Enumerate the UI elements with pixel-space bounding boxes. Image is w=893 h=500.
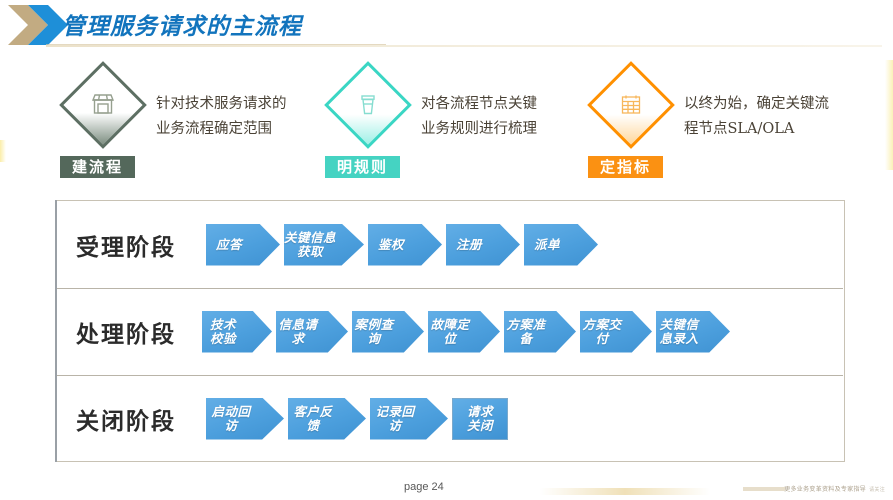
page-number: page 24: [404, 481, 444, 493]
flow-step-label: 方案交付: [582, 318, 621, 346]
page-title: 管理服务请求的主流程: [62, 7, 302, 41]
flow-step[interactable]: 启动回访: [206, 398, 284, 440]
flow-row: 关闭阶段启动回访客户反馈记录回访请求关闭: [56, 375, 844, 462]
flow-step[interactable]: 关键信息录入: [656, 311, 730, 353]
watermark-text: 更多业务变革资料及专家指导: [784, 486, 866, 493]
footer-smudge: [540, 488, 710, 495]
flow-step-label: 应答: [216, 238, 242, 252]
flow-step-label: 客户反馈: [293, 405, 332, 433]
flow-step-label: 案例查询: [354, 318, 393, 346]
flow-step-label: 关键信息获取: [284, 231, 336, 259]
pillar-caption-1-line2: 业务流程确定范围: [156, 117, 272, 142]
flow-step[interactable]: 关键信息获取: [284, 224, 364, 266]
flow-step-label: 关键信息录入: [659, 318, 698, 346]
flow-step[interactable]: 案例查询: [352, 311, 424, 353]
pillar-chip-2: 明规则: [325, 156, 400, 178]
flow-step-label: 注册: [456, 238, 482, 252]
diamond-shape-1: [60, 62, 146, 148]
flow-step[interactable]: 方案准备: [504, 311, 576, 353]
flow-step-label: 启动回访: [211, 405, 250, 433]
pillar-caption-2-line1: 对各流程节点关键: [421, 92, 537, 117]
flow-step[interactable]: 派单: [524, 224, 598, 266]
diamond-shape-2: [325, 62, 411, 148]
pillar-caption-3-line2: 程节点SLA/OLA: [684, 117, 794, 142]
flow-panel-left-accent: [55, 200, 57, 462]
flow-panel: 受理阶段应答关键信息获取鉴权注册派单处理阶段技术校验信息请求案例查询故障定位方案…: [55, 200, 845, 462]
flow-step[interactable]: 技术校验: [202, 311, 272, 353]
flow-step[interactable]: 应答: [206, 224, 280, 266]
flow-step-label: 鉴权: [378, 238, 404, 252]
slide-canvas: 管理服务请求的主流程 建流程 针对技术服务请求: [0, 0, 893, 500]
flow-step-label: 故障定位: [430, 318, 469, 346]
flow-step-label: 技术校验: [210, 318, 236, 346]
flow-step[interactable]: 客户反馈: [288, 398, 366, 440]
diamond-shape-3: [588, 62, 674, 148]
slide-header: 管理服务请求的主流程: [0, 0, 893, 50]
flow-row: 受理阶段应答关键信息获取鉴权注册派单: [56, 201, 844, 288]
pillar-caption-1-line1: 针对技术服务请求的: [156, 92, 287, 117]
stage-label: 关闭阶段: [76, 402, 176, 436]
flow-step[interactable]: 记录回访: [370, 398, 448, 440]
flow-step-list: 应答关键信息获取鉴权注册派单: [206, 224, 602, 266]
flow-step[interactable]: 信息请求: [276, 311, 348, 353]
flow-step[interactable]: 方案交付: [580, 311, 652, 353]
flow-step-label: 记录回访: [375, 405, 414, 433]
watermark: 更多业务变革资料及专家指导请关注: [784, 484, 885, 493]
watermark-tail: 请关注: [869, 487, 885, 493]
flow-step-label: 请求关闭: [467, 405, 493, 433]
left-edge-glow: [0, 140, 6, 162]
flow-step-label: 方案准备: [506, 318, 545, 346]
shop-icon: [60, 62, 146, 148]
pillar-caption-3-line1: 以终为始，确定关键流: [684, 92, 829, 117]
flow-step-label: 信息请求: [278, 318, 317, 346]
flow-step[interactable]: 故障定位: [428, 311, 500, 353]
title-underline-glow: [46, 45, 882, 47]
stage-label: 处理阶段: [76, 315, 176, 349]
watermark-bar: [743, 487, 785, 491]
flow-step[interactable]: 注册: [446, 224, 520, 266]
stage-label: 受理阶段: [76, 228, 176, 262]
pillar-caption-2-line2: 业务规则进行梳理: [421, 117, 537, 142]
flow-row: 处理阶段技术校验信息请求案例查询故障定位方案准备方案交付关键信息录入: [56, 288, 844, 375]
flow-step-list: 技术校验信息请求案例查询故障定位方案准备方案交付关键信息录入: [202, 311, 734, 353]
flow-step[interactable]: 鉴权: [368, 224, 442, 266]
cup-icon: [325, 62, 411, 148]
pillar-chip-1: 建流程: [60, 156, 135, 178]
calendar-icon: [588, 62, 674, 148]
flow-step[interactable]: 请求关闭: [452, 398, 508, 440]
flow-step-list: 启动回访客户反馈记录回访请求关闭: [206, 398, 508, 440]
flow-step-label: 派单: [534, 238, 560, 252]
right-edge-glow: [885, 60, 893, 170]
pillar-chip-3: 定指标: [588, 156, 663, 178]
